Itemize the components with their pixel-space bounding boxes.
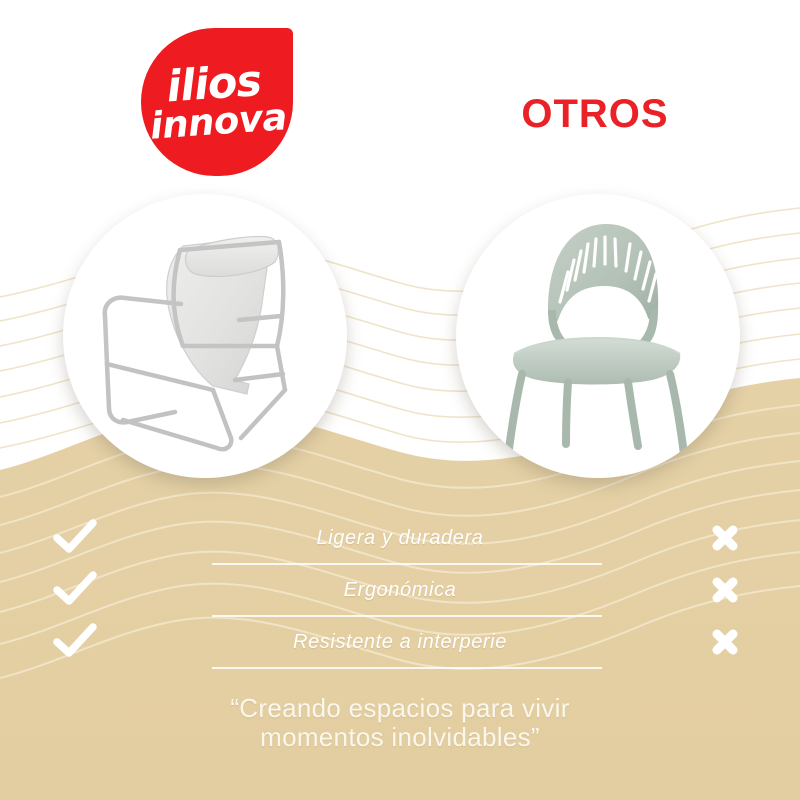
comparison-row: Resistente a interperie bbox=[0, 616, 800, 668]
logo-wordmark: ilios innova bbox=[136, 23, 298, 181]
tagline-line-1: “Creando espacios para vivir bbox=[0, 694, 800, 723]
check-icon bbox=[53, 623, 97, 661]
feature-label: Ergonómica bbox=[150, 579, 650, 602]
otros-fan-back-chair-illustration bbox=[456, 194, 740, 478]
feature-label: Ligera y duradera bbox=[150, 527, 650, 550]
competitor-title: OTROS bbox=[430, 92, 760, 137]
comparison-poster: ilios innova OTROS bbox=[0, 0, 800, 800]
otros-mark-cell-2 bbox=[650, 627, 800, 657]
ilios-mark-cell-1 bbox=[0, 571, 150, 609]
check-icon bbox=[53, 571, 97, 609]
tagline: “Creando espacios para vivir momentos in… bbox=[0, 694, 800, 751]
comparison-row: Ergonómica bbox=[0, 564, 800, 616]
otros-mark-cell-0 bbox=[650, 523, 800, 553]
feature-label: Resistente a interperie bbox=[150, 631, 650, 654]
tagline-line-2: momentos inolvidables” bbox=[0, 723, 800, 752]
cross-icon bbox=[710, 523, 740, 553]
row-divider bbox=[212, 667, 602, 669]
ilios-mark-cell-0 bbox=[0, 519, 150, 557]
ilios-mark-cell-2 bbox=[0, 623, 150, 661]
brand-logo[interactable]: ilios innova bbox=[141, 28, 293, 176]
otros-mark-cell-1 bbox=[650, 575, 800, 605]
check-icon bbox=[53, 519, 97, 557]
ilios-sling-lounge-chair-illustration bbox=[63, 194, 347, 478]
cross-icon bbox=[710, 575, 740, 605]
product-circle-otros[interactable] bbox=[456, 194, 740, 478]
cross-icon bbox=[710, 627, 740, 657]
product-circle-ilios[interactable] bbox=[63, 194, 347, 478]
logo-wordmark-line2: innova bbox=[149, 101, 288, 143]
comparison-row: Ligera y duradera bbox=[0, 512, 800, 564]
comparison-table: Ligera y duradera Ergonómica bbox=[0, 512, 800, 668]
